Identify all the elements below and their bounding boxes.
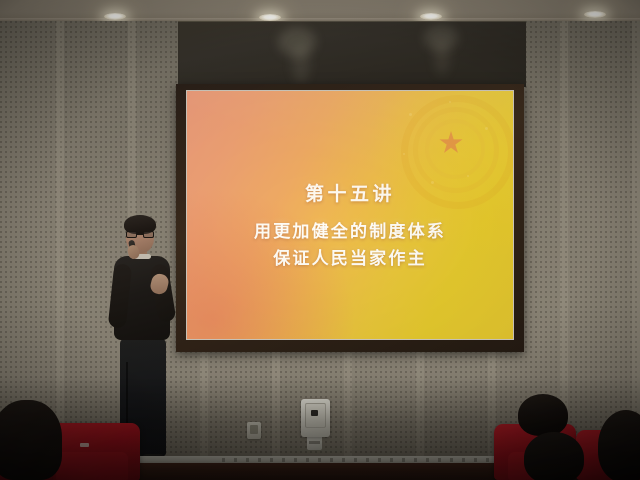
baseboard-notch [330,458,333,462]
attendee-right-back-head [518,394,568,436]
wall-power-outlet [247,422,261,439]
glasses-lens-right [143,231,154,238]
slide-subtitle-line-1: 用更加健全的制度体系 [254,219,446,246]
attendee-right-front-head [524,432,584,480]
baseboard-notch [486,458,489,462]
baseboard-notch [246,458,249,462]
projection-screen-frame: 第十五讲 用更加健全的制度体系 保证人民当家作主 [176,84,524,352]
baseboard-notch [462,458,465,462]
baseboard-notch [354,458,357,462]
baseboard-notch [414,458,417,462]
baseboard-notch [234,458,237,462]
lecture-hall-photo: 第十五讲 用更加健全的制度体系 保证人民当家作主 [0,0,640,480]
wall-control-panel[interactable] [301,399,330,437]
ceiling-downlight-4 [584,11,606,18]
baseboard-notch [474,458,477,462]
baseboard-notch [258,458,261,462]
seat-number-tag [80,443,89,447]
baseboard-notch [450,458,453,462]
baseboard-notch [378,458,381,462]
slide-text-block: 第十五讲 用更加健全的制度体系 保证人民当家作主 [187,91,513,339]
baseboard-notch [294,458,297,462]
baseboard-notch [438,458,441,462]
seat-left-cushion [56,452,128,480]
projected-slide: 第十五讲 用更加健全的制度体系 保证人民当家作主 [187,91,513,339]
eyeglasses-icon [126,231,154,238]
baseboard-notch [342,458,345,462]
baseboard-notch [402,458,405,462]
control-box-label [309,441,320,444]
control-panel-button[interactable] [311,410,318,416]
slide-title: 第十五讲 [305,179,395,206]
projection-screen-surface: 第十五讲 用更加健全的制度体系 保证人民当家作主 [186,90,514,340]
baseboard-notch [270,458,273,462]
glasses-lens-left [126,231,137,238]
attendee-left-hair [0,400,62,480]
slide-subtitle-line-2: 保证人民当家作主 [273,246,427,273]
baseboard-notch [390,458,393,462]
ceiling-downlight-1 [104,13,126,20]
baseboard-notch [222,458,225,462]
ceiling-downlight-2 [259,14,281,21]
baseboard-notch [306,458,309,462]
baseboard-notch [282,458,285,462]
upper-dark-panel [178,21,526,87]
outlet-face [250,425,258,434]
ceiling-downlight-3 [420,13,442,20]
baseboard-notch [366,458,369,462]
baseboard-notch [318,458,321,462]
panel-reflection-2 [292,43,310,83]
baseboard-notch [426,458,429,462]
panel-reflection-4 [434,39,450,75]
